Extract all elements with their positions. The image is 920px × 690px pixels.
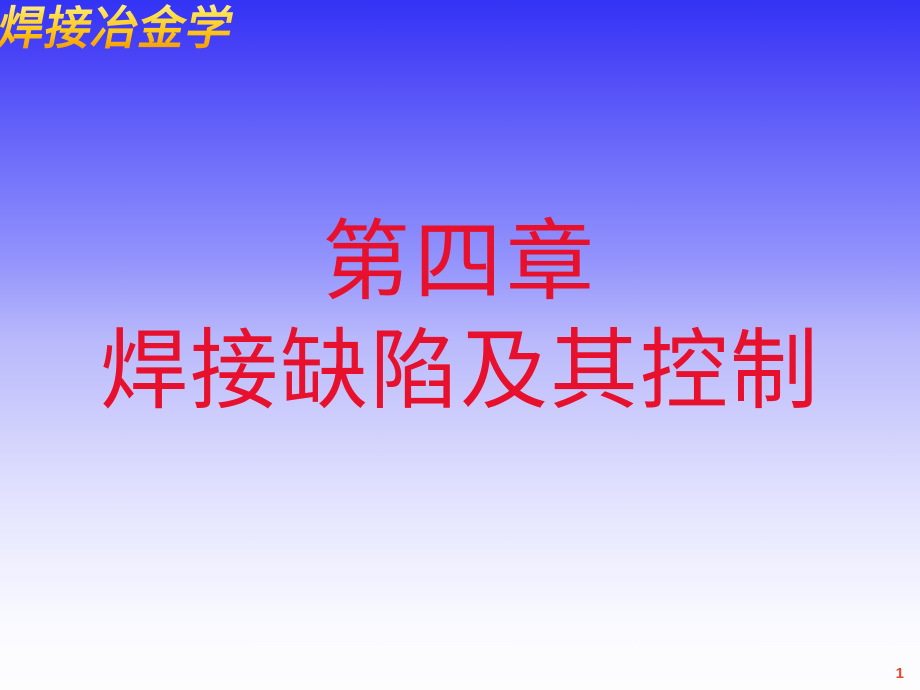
chapter-title-line-1: 第四章: [0, 212, 920, 311]
course-title-wordart: 焊接冶金学: [0, 0, 304, 62]
chapter-title-block: 第四章 焊接缺陷及其控制: [0, 212, 920, 421]
page-number: 1: [896, 665, 904, 682]
slide-canvas: 焊接冶金学 第四章 焊接缺陷及其控制 1: [0, 0, 920, 690]
chapter-title-line-2: 焊接缺陷及其控制: [0, 321, 920, 420]
